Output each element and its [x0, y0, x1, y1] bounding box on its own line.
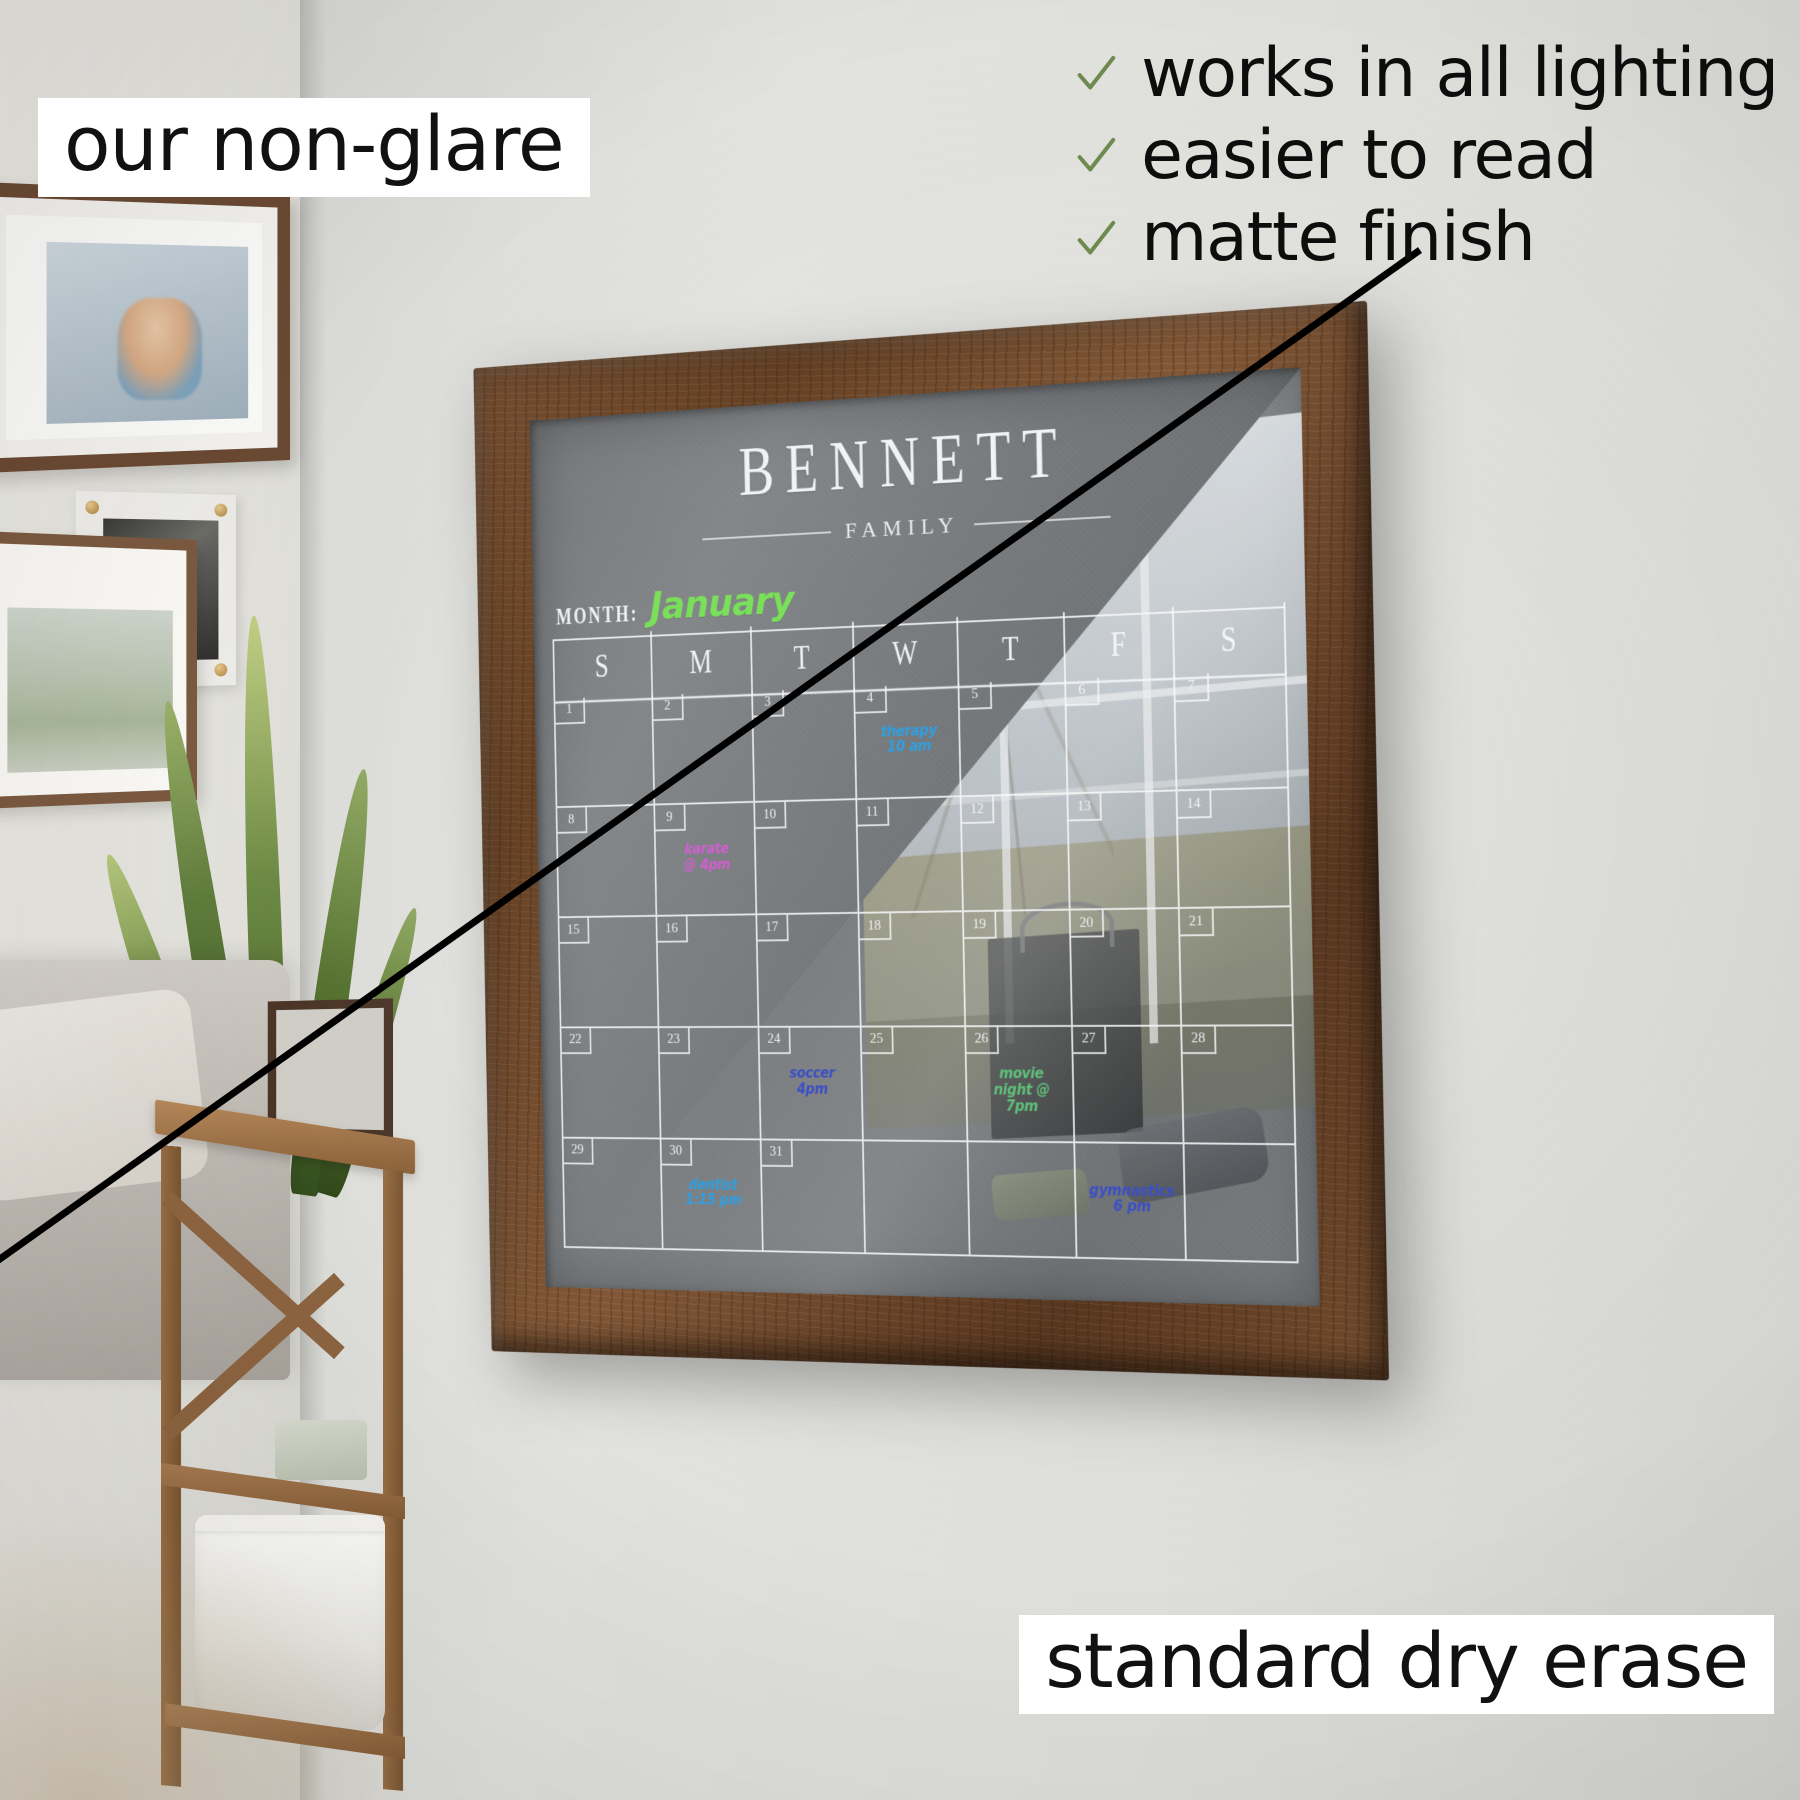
- day-number: 10: [755, 802, 786, 829]
- calendar-week-row: 15161718192021: [559, 907, 1294, 1028]
- day-number: 25: [861, 1027, 893, 1054]
- calendar-day-cell[interactable]: 22: [561, 1028, 661, 1139]
- calendar-week-row: 222324soccer 4pm2526movie night @ 7pm272…: [561, 1026, 1296, 1145]
- day-number: 31: [761, 1140, 792, 1167]
- feature-label: matte finish: [1141, 198, 1535, 278]
- month-row: MONTH: January: [556, 577, 794, 633]
- day-number: 11: [857, 799, 889, 826]
- calendar-day-cell[interactable]: 27: [1073, 1026, 1185, 1143]
- feature-item: easier to read: [1073, 116, 1596, 196]
- weekday-header-6: S: [1174, 602, 1287, 680]
- calendar-day-cell[interactable]: 11: [857, 798, 964, 914]
- framed-dry-erase-calendar[interactable]: BENNETT FAMILY MONTH: January SMTWTFS123…: [473, 301, 1389, 1381]
- calendar-day-cell[interactable]: 2: [653, 691, 755, 806]
- weekday-header-3: W: [854, 617, 960, 693]
- day-number: 13: [1068, 794, 1102, 822]
- month-value-handwritten[interactable]: January: [650, 577, 794, 629]
- handwritten-event-note[interactable]: dentist 1:15 pm: [672, 1176, 755, 1209]
- day-number: 8: [557, 808, 587, 834]
- day-number: 17: [757, 915, 788, 942]
- calendar-day-cell[interactable]: 10: [755, 800, 859, 915]
- feature-item: works in all lighting: [1073, 34, 1778, 114]
- calendar-day-cell[interactable]: 19: [964, 911, 1073, 1027]
- day-number: 6: [1066, 677, 1100, 705]
- label-non-glare-text: our non-glare: [64, 104, 564, 185]
- day-number: 29: [563, 1138, 593, 1164]
- calendar-day-cell[interactable]: 13: [1068, 792, 1180, 911]
- handwritten-event-note[interactable]: soccer 4pm: [770, 1065, 855, 1097]
- day-number: 15: [559, 918, 589, 944]
- check-icon: [1073, 133, 1119, 179]
- calendar-day-cell[interactable]: gymnastics 6 pm: [1075, 1143, 1187, 1262]
- day-number: 1: [555, 697, 585, 724]
- calendar-day-cell[interactable]: 4therapy 10 am: [855, 683, 962, 801]
- calendar-day-cell[interactable]: 18: [859, 912, 966, 1027]
- day-number: 21: [1180, 909, 1214, 937]
- weekday-header-2: T: [751, 622, 854, 697]
- weekday-header-1: M: [652, 627, 753, 701]
- calendar-artwork: BENNETT FAMILY MONTH: January SMTWTFS123…: [530, 367, 1320, 1306]
- calendar-day-cell[interactable]: 14: [1177, 789, 1291, 909]
- calendar-day-cell[interactable]: 21: [1180, 907, 1294, 1026]
- calendar-day-cell[interactable]: 9karate @ 4pm: [655, 803, 757, 917]
- calendar-day-cell[interactable]: 26movie night @ 7pm: [966, 1027, 1075, 1143]
- calendar-day-cell[interactable]: 24soccer 4pm: [759, 1027, 863, 1141]
- calendar-day-cell[interactable]: [864, 1141, 971, 1257]
- calendar-day-cell[interactable]: [968, 1142, 1077, 1259]
- month-label: MONTH:: [556, 602, 639, 632]
- check-icon: [1073, 216, 1119, 262]
- calendar-week-row: 89karate @ 4pm1011121314: [557, 789, 1292, 919]
- calendar-day-cell[interactable]: 29: [563, 1138, 663, 1250]
- day-number: 5: [959, 682, 992, 710]
- day-number: 9: [655, 805, 686, 832]
- day-number: 27: [1073, 1027, 1107, 1054]
- day-number: 20: [1071, 910, 1105, 938]
- day-number: 26: [966, 1027, 999, 1054]
- family-word: FAMILY: [845, 512, 960, 544]
- calendar-day-cell[interactable]: [1184, 1144, 1298, 1264]
- calendar-grid[interactable]: SMTWTFS1234therapy 10 am56789karate @ 4p…: [552, 606, 1299, 1263]
- day-number: 28: [1182, 1026, 1216, 1054]
- divider-rule-left: [702, 532, 831, 541]
- calendar-day-cell[interactable]: 6: [1066, 674, 1177, 794]
- day-number: 14: [1177, 791, 1211, 819]
- weekday-header-0: S: [554, 631, 653, 704]
- calendar-day-cell[interactable]: 12: [961, 795, 1070, 913]
- handwritten-event-note[interactable]: gymnastics 6 pm: [1087, 1182, 1178, 1216]
- feature-label: works in all lighting: [1141, 34, 1778, 114]
- day-number: 12: [961, 797, 994, 825]
- calendar-day-cell[interactable]: 5: [959, 679, 1068, 798]
- day-number: 19: [964, 912, 997, 939]
- calendar-day-cell[interactable]: 17: [757, 914, 861, 1028]
- calendar-board-surface[interactable]: BENNETT FAMILY MONTH: January SMTWTFS123…: [530, 367, 1320, 1306]
- calendar-day-cell[interactable]: 25: [861, 1027, 968, 1142]
- day-number: 3: [753, 690, 784, 717]
- handwritten-event-note[interactable]: karate @ 4pm: [665, 841, 748, 874]
- weekday-header-4: T: [958, 612, 1066, 688]
- day-number: 24: [759, 1028, 790, 1054]
- day-number: 22: [561, 1028, 591, 1054]
- calendar-week-row: 2930dentist 1:15 pm31gymnastics 6 pm: [563, 1138, 1299, 1264]
- day-number: 16: [657, 916, 688, 942]
- weekday-header-5: F: [1065, 607, 1176, 684]
- calendar-day-cell[interactable]: 31: [761, 1140, 866, 1255]
- handwritten-event-note[interactable]: therapy 10 am: [866, 721, 953, 756]
- day-number: 4: [855, 686, 887, 714]
- day-number: 7: [1175, 673, 1209, 702]
- label-non-glare: our non-glare: [38, 98, 590, 197]
- calendar-day-cell[interactable]: 1: [555, 695, 655, 809]
- label-standard-dry-erase-text: standard dry erase: [1045, 1621, 1748, 1702]
- product-marketing-image: BENNETT FAMILY MONTH: January SMTWTFS123…: [0, 0, 1800, 1800]
- calendar-day-cell[interactable]: 23: [659, 1028, 761, 1140]
- feature-label: easier to read: [1141, 116, 1596, 196]
- calendar-day-cell[interactable]: 16: [657, 915, 759, 1028]
- check-icon: [1073, 51, 1119, 97]
- divider-rule-right: [974, 516, 1110, 525]
- day-number: 23: [659, 1028, 690, 1054]
- calendar-day-cell[interactable]: 8: [557, 806, 657, 919]
- label-standard-dry-erase: standard dry erase: [1019, 1615, 1774, 1714]
- calendar-day-cell[interactable]: 20: [1071, 909, 1183, 1027]
- calendar-day-cell[interactable]: 28: [1182, 1026, 1296, 1145]
- day-number: 18: [859, 913, 891, 940]
- calendar-day-cell[interactable]: 30dentist 1:15 pm: [661, 1139, 763, 1252]
- day-number: 2: [653, 694, 684, 721]
- calendar-day-cell[interactable]: 15: [559, 917, 659, 1028]
- feature-checklist: works in all lightingeasier to readmatte…: [1073, 34, 1778, 279]
- feature-item: matte finish: [1073, 198, 1535, 278]
- handwritten-event-note[interactable]: movie night @ 7pm: [977, 1065, 1066, 1114]
- day-number: 30: [661, 1139, 692, 1165]
- calendar-day-cell[interactable]: 3: [753, 687, 857, 803]
- calendar-day-cell[interactable]: 7: [1175, 670, 1289, 792]
